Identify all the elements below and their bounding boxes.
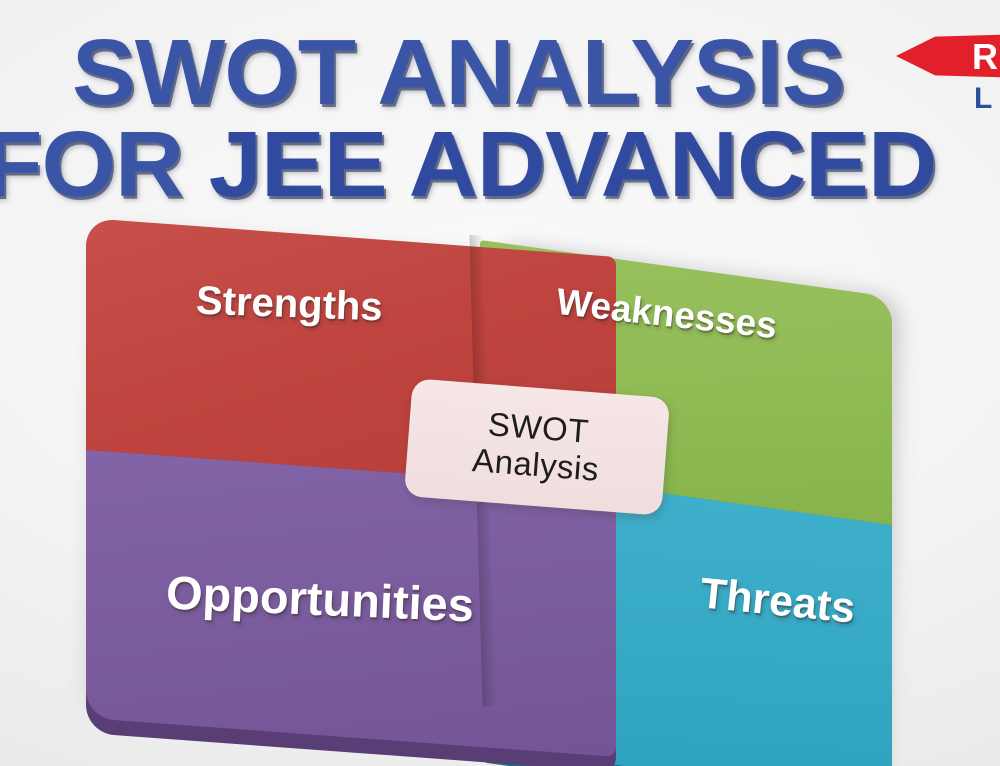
brand-sub-letter: L bbox=[974, 82, 992, 116]
center-card-line-2: Analysis bbox=[471, 442, 600, 489]
swot-poster: SWOT ANALYSIS FOR JEE ADVANCED R L Stren… bbox=[0, 0, 1000, 766]
brand-logo[interactable]: R L bbox=[896, 34, 1000, 120]
center-card: SWOT Analysis bbox=[404, 378, 670, 515]
brand-letter: R bbox=[972, 36, 998, 78]
swot-matrix: Strengths Weaknesses Opportunities Threa… bbox=[0, 0, 1000, 766]
